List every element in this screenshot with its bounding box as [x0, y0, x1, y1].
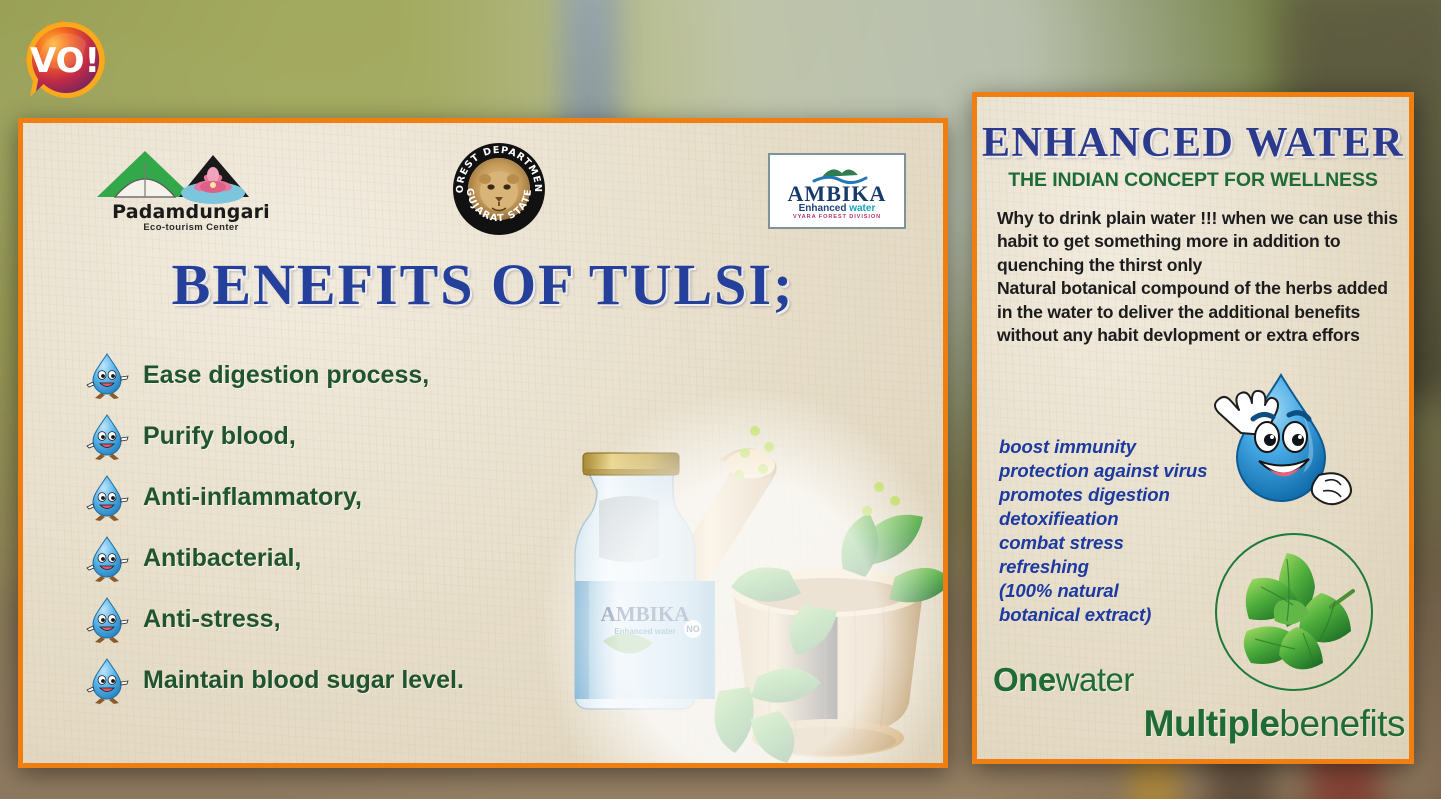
tagline-line-2: Multiplebenefits — [993, 703, 1405, 745]
ambika-tagline-enhanced: Enhanced — [799, 203, 850, 214]
tent-mountain-lotus-icon — [83, 145, 293, 205]
enhanced-water-subtitle: THE INDIAN CONCEPT FOR WELLNESS — [977, 169, 1409, 192]
vo-brand-logo[interactable]: VO! — [14, 8, 118, 112]
water-drop-mascot-icon — [85, 412, 131, 462]
intro-paragraph-1: Why to drink plain water !!! when we can… — [997, 207, 1401, 277]
list-item-label: Ease digestion process, — [143, 361, 429, 390]
enhanced-water-title: ENHANCED WATER — [977, 119, 1409, 167]
ambika-tagline-water: water — [849, 203, 875, 214]
wellness-point: refreshing — [999, 555, 1249, 579]
wellness-point: detoxifieation — [999, 507, 1249, 531]
list-item: Purify blood, — [85, 406, 605, 467]
list-item: Antibacterial, — [85, 528, 605, 589]
padamdungari-name: Padamdungari — [91, 201, 291, 223]
tagline-water: water — [1056, 661, 1134, 698]
enhanced-water-panel: ENHANCED WATER THE INDIAN CONCEPT FOR WE… — [972, 92, 1414, 764]
benefits-list: Ease digestion process, Purify blood, — [85, 345, 605, 711]
list-item: Anti-inflammatory, — [85, 467, 605, 528]
tagline-line-1: Onewater — [993, 661, 1405, 699]
product-photo: AMBIKA Enhanced water NO — [543, 391, 948, 768]
water-drop-mascot-icon — [85, 351, 131, 401]
vo-logo-text: VO! — [30, 41, 100, 81]
ambika-logo[interactable]: AMBIKA Enhanced water VYARA FOREST DIVIS… — [768, 153, 906, 229]
wellness-point: promotes digestion — [999, 483, 1249, 507]
tagline-one: One — [993, 661, 1056, 698]
wellness-point: (100% natural — [999, 579, 1249, 603]
list-item: Ease digestion process, — [85, 345, 605, 406]
padamdungari-logo[interactable]: Padamdungari Eco-tourism Center — [83, 145, 293, 239]
water-drop-mascot-icon — [85, 656, 131, 706]
padamdungari-subtitle: Eco-tourism Center — [91, 222, 291, 233]
left-panel-logo-row: Padamdungari Eco-tourism Center — [23, 123, 943, 233]
list-item-label: Anti-inflammatory, — [143, 483, 362, 512]
intro-paragraph-2: Natural botanical compound of the herbs … — [997, 277, 1401, 347]
wellness-point: boost immunity — [999, 435, 1249, 459]
forest-department-seal[interactable]: FOREST DEPARTMENT GUJARAT STATE — [451, 141, 547, 237]
list-item-label: Anti-stress, — [143, 605, 281, 634]
list-item-label: Antibacterial, — [143, 544, 301, 573]
intro-copy: Why to drink plain water !!! when we can… — [997, 207, 1401, 347]
product-photo-glow — [543, 391, 948, 768]
water-drop-mascot-icon — [85, 595, 131, 645]
tagline-benefits: benefits — [1279, 703, 1405, 744]
water-drop-mascot-icon — [85, 473, 131, 523]
ambika-division: VYARA FOREST DIVISION — [770, 214, 904, 220]
wellness-points-list: boost immunity protection against virus … — [999, 435, 1249, 627]
list-item: Maintain blood sugar level. — [85, 650, 605, 711]
list-item: Anti-stress, — [85, 589, 605, 650]
tagline-multiple: Multiple — [1144, 703, 1280, 744]
water-drop-mascot-icon — [85, 534, 131, 584]
wellness-point: combat stress — [999, 531, 1249, 555]
tulsi-benefits-panel: Padamdungari Eco-tourism Center — [18, 118, 948, 768]
brand-tagline: Onewater Multiplebenefits — [993, 661, 1405, 745]
page-title: BENEFITS OF TULSI; — [23, 251, 943, 318]
list-item-label: Maintain blood sugar level. — [143, 666, 464, 695]
ambika-tagline: Enhanced water — [770, 203, 904, 214]
wellness-point: protection against virus — [999, 459, 1249, 483]
list-item-label: Purify blood, — [143, 422, 296, 451]
mascot-right-hand — [1312, 473, 1351, 504]
wellness-point: botanical extract) — [999, 603, 1249, 627]
